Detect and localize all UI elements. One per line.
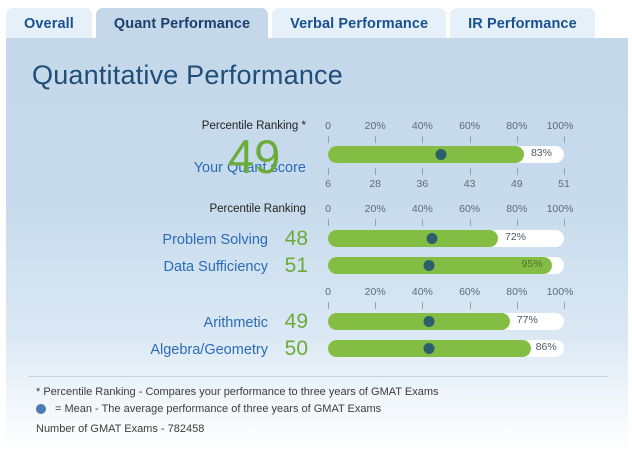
axis-tick-label: 80% — [506, 203, 527, 215]
footnote-mean: = Mean - The average performance of thre… — [55, 403, 381, 415]
percent-axis-labels-3: 0 20% 40% 60% 80% 100% — [322, 286, 558, 300]
axis-tick-label: 0 — [325, 286, 331, 298]
scale-tick-label: 6 — [325, 178, 331, 190]
tab-ir-performance[interactable]: IR Performance — [450, 8, 595, 40]
tab-bar: Overall Quant Performance Verbal Perform… — [0, 0, 632, 40]
percentile-fill-arithmetic — [328, 313, 510, 330]
percentile-track-overall: 83% — [328, 146, 564, 163]
mean-legend-dot — [36, 404, 46, 414]
percent-axis-labels-1: 0 20% 40% 60% 80% 100% — [322, 120, 558, 134]
axis-tick-label: 0 — [325, 120, 331, 132]
percentile-track-algebra-geometry: 86% — [328, 340, 564, 357]
percentile-track-problem-solving: 72% — [328, 230, 564, 247]
tab-overall[interactable]: Overall — [6, 8, 92, 40]
row-label-arithmetic: Arithmetic — [204, 315, 268, 331]
axis-tick-label: 60% — [459, 203, 480, 215]
scale-tick-label: 51 — [558, 178, 570, 190]
mean-dot-arithmetic — [424, 316, 435, 327]
percentile-track-data-sufficiency: 95% — [328, 257, 564, 274]
axis-tick-label: 40% — [412, 203, 433, 215]
axis-tick-label: 20% — [365, 120, 386, 132]
axis-tick-label: 100% — [547, 203, 574, 215]
percentile-track-arithmetic: 77% — [328, 313, 564, 330]
percentile-fill-data-sufficiency — [328, 257, 552, 274]
axis-tick-label: 100% — [547, 120, 574, 132]
row-score-problem-solving: 48 — [270, 227, 308, 251]
quant-performance-report: Overall Quant Performance Verbal Perform… — [0, 0, 632, 453]
row-score-algebra-geometry: 50 — [270, 337, 308, 361]
tab-verbal-performance[interactable]: Verbal Performance — [272, 8, 446, 40]
percentile-value-overall: 83% — [531, 147, 552, 159]
page-title: Quantitative Performance — [32, 60, 343, 91]
axis-tick-label: 20% — [365, 286, 386, 298]
tab-quant-performance[interactable]: Quant Performance — [96, 8, 268, 40]
score-scale-labels: 6 28 36 43 49 51 — [322, 178, 558, 192]
axis-tick-label: 60% — [459, 120, 480, 132]
axis-tick-label: 0 — [325, 203, 331, 215]
footnote-exam-count: Number of GMAT Exams - 782458 — [36, 423, 204, 435]
axis-tick-label: 40% — [412, 120, 433, 132]
percentile-value-arithmetic: 77% — [517, 314, 538, 326]
axis-tick-label: 20% — [365, 203, 386, 215]
scale-tick-label: 36 — [417, 178, 429, 190]
footnote-divider — [28, 376, 608, 377]
percentile-fill-overall — [328, 146, 524, 163]
row-score-data-sufficiency: 51 — [270, 254, 308, 278]
axis-tick-label: 60% — [459, 286, 480, 298]
percentile-value-problem-solving: 72% — [505, 231, 526, 243]
hero-score-value: 49 — [228, 133, 280, 180]
scale-tick-label: 28 — [369, 178, 381, 190]
axis-tick-label: 80% — [506, 286, 527, 298]
percentile-fill-problem-solving — [328, 230, 498, 247]
percentile-value-data-sufficiency: 95% — [522, 258, 543, 270]
row-label-algebra-geometry: Algebra/Geometry — [150, 342, 268, 358]
row-label-problem-solving: Problem Solving — [162, 232, 268, 248]
percent-axis-labels-2: 0 20% 40% 60% 80% 100% — [322, 203, 558, 217]
axis-tick-label: 100% — [547, 286, 574, 298]
percentile-value-algebra-geometry: 86% — [536, 341, 557, 353]
mean-dot-problem-solving — [426, 233, 437, 244]
axis-caption-2: Percentile Ranking — [209, 203, 306, 215]
axis-tick-label: 40% — [412, 286, 433, 298]
mean-dot-data-sufficiency — [424, 260, 435, 271]
row-score-arithmetic: 49 — [270, 310, 308, 334]
mean-dot-algebra-geometry — [424, 343, 435, 354]
row-label-data-sufficiency: Data Sufficiency — [163, 259, 268, 275]
scale-tick-label: 43 — [464, 178, 476, 190]
report-panel: Quantitative Performance Percentile Rank… — [6, 38, 628, 453]
scale-tick-label: 49 — [511, 178, 523, 190]
axis-tick-label: 80% — [506, 120, 527, 132]
mean-dot-overall — [436, 149, 447, 160]
footnote-percentile-ranking: * Percentile Ranking - Compares your per… — [36, 386, 438, 398]
